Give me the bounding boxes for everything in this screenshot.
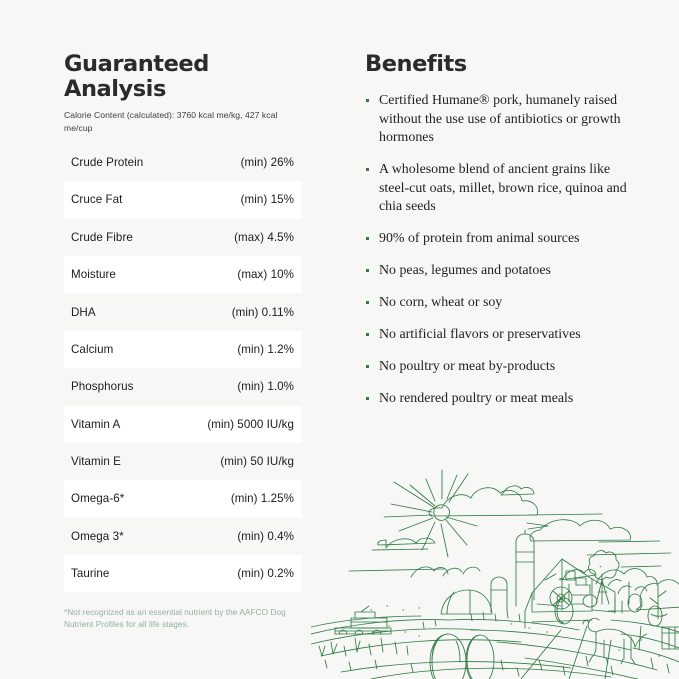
- benefit-text: No artificial flavors or preservatives: [379, 327, 581, 342]
- nutrient-amount: (max) 4.5%: [172, 219, 302, 256]
- nutrient-name: Moisture: [64, 256, 172, 293]
- benefit-text: No rendered poultry or meat meals: [379, 391, 573, 406]
- farm-landscape-illustration: [311, 434, 679, 679]
- table-row: DHA (min) 0.11%: [64, 293, 302, 330]
- guaranteed-analysis-table: Crude Protein (min) 26% Cruce Fat (min) …: [64, 144, 302, 593]
- benefit-text: Certified Humane® pork, humanely raised …: [379, 93, 621, 145]
- bullet-icon: [366, 168, 369, 171]
- list-item: No peas, legumes and potatoes: [365, 262, 643, 280]
- nutrient-name: Crude Protein: [64, 144, 172, 181]
- benefits-list: Certified Humane® pork, humanely raised …: [365, 92, 643, 408]
- bullet-icon: [366, 237, 369, 240]
- list-item: No corn, wheat or soy: [365, 294, 643, 312]
- nutrient-name: Vitamin A: [64, 406, 172, 443]
- list-item: No rendered poultry or meat meals: [365, 390, 643, 408]
- table-row: Calcium (min) 1.2%: [64, 331, 302, 368]
- bullet-icon: [366, 397, 369, 400]
- nutrient-name: Calcium: [64, 331, 172, 368]
- table-row: Crude Protein (min) 26%: [64, 144, 302, 181]
- list-item: No artificial flavors or preservatives: [365, 326, 643, 344]
- table-row: Omega 3* (min) 0.4%: [64, 518, 302, 555]
- bullet-icon: [366, 269, 369, 272]
- nutrient-amount: (max) 10%: [172, 256, 302, 293]
- benefit-text: No corn, wheat or soy: [379, 295, 502, 310]
- guaranteed-analysis-section: Guaranteed Analysis Calorie Content (cal…: [64, 52, 302, 631]
- nutrient-amount: (min) 1.2%: [172, 331, 302, 368]
- dog: [583, 618, 647, 664]
- nutrient-name: Cruce Fat: [64, 181, 172, 218]
- table-row: Cruce Fat (min) 15%: [64, 181, 302, 218]
- table-row: Vitamin E (min) 50 IU/kg: [64, 443, 302, 480]
- bullet-icon: [366, 301, 369, 304]
- nutrient-amount: (min) 50 IU/kg: [172, 443, 302, 480]
- list-item: Certified Humane® pork, humanely raised …: [365, 92, 643, 147]
- nutrient-amount: (min) 15%: [172, 181, 302, 218]
- benefit-text: A wholesome blend of ancient grains like…: [379, 162, 627, 214]
- nutrient-name: Omega-6*: [64, 480, 172, 517]
- nutrient-amount: (min) 1.25%: [172, 480, 302, 517]
- table-row: Crude Fibre (max) 4.5%: [64, 219, 302, 256]
- table-row: Omega-6* (min) 1.25%: [64, 480, 302, 517]
- clouds: [349, 486, 671, 571]
- nutrient-name: Taurine: [64, 555, 172, 592]
- nutrient-name: Vitamin E: [64, 443, 172, 480]
- nutrient-amount: (min) 26%: [172, 144, 302, 181]
- nutrient-amount: (min) 5000 IU/kg: [172, 406, 302, 443]
- benefit-text: 90% of protein from animal sources: [379, 231, 580, 246]
- nutrient-name: Crude Fibre: [64, 219, 172, 256]
- table-row: Vitamin A (min) 5000 IU/kg: [64, 406, 302, 443]
- product-info-panel: Guaranteed Analysis Calorie Content (cal…: [0, 0, 679, 679]
- nutrient-amount: (min) 0.2%: [172, 555, 302, 592]
- trees: [636, 580, 679, 619]
- barn-and-silo: [441, 530, 630, 628]
- nutrient-amount: (min) 1.0%: [172, 368, 302, 405]
- benefits-section: Benefits Certified Humane® pork, humanel…: [365, 52, 643, 422]
- aafco-footnote: *Not recognized as an essential nutrient…: [64, 606, 296, 630]
- benefit-text: No peas, legumes and potatoes: [379, 263, 551, 278]
- nutrient-amount: (min) 0.4%: [172, 518, 302, 555]
- benefit-text: No poultry or meat by-products: [379, 359, 555, 374]
- nutrient-name: DHA: [64, 293, 172, 330]
- bullet-icon: [366, 333, 369, 336]
- list-item: 90% of protein from animal sources: [365, 230, 643, 248]
- table-row: Moisture (max) 10%: [64, 256, 302, 293]
- bullet-icon: [366, 99, 369, 102]
- tractor: [550, 578, 597, 609]
- table-row: Taurine (min) 0.2%: [64, 555, 302, 592]
- calorie-content-subtitle: Calorie Content (calculated): 3760 kcal …: [64, 109, 289, 133]
- bullet-icon: [366, 365, 369, 368]
- guaranteed-analysis-title: Guaranteed Analysis: [64, 52, 302, 102]
- list-item: No poultry or meat by-products: [365, 358, 643, 376]
- list-item: A wholesome blend of ancient grains like…: [365, 161, 643, 216]
- nutrient-name: Phosphorus: [64, 368, 172, 405]
- nutrient-amount: (min) 0.11%: [172, 293, 302, 330]
- table-row: Phosphorus (min) 1.0%: [64, 368, 302, 405]
- harvester: [335, 606, 391, 634]
- benefits-title: Benefits: [365, 52, 643, 77]
- nutrient-name: Omega 3*: [64, 518, 172, 555]
